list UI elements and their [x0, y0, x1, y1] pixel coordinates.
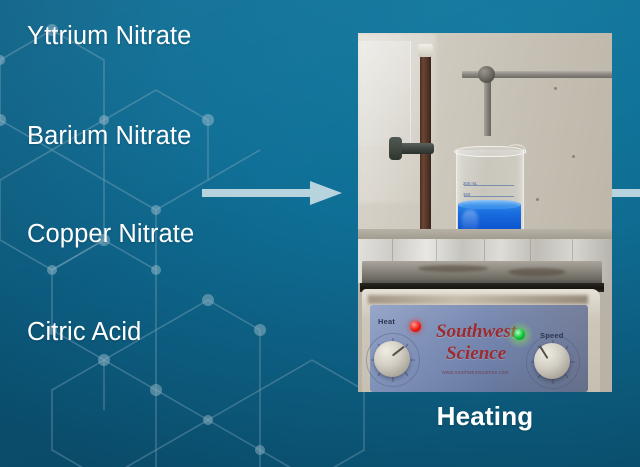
hotplate-body-stain — [368, 295, 588, 304]
reagent-item-yttrium-nitrate: Yttrium Nitrate — [27, 22, 191, 51]
process-arrow-right-icon — [202, 180, 342, 206]
heat-control-label: Heat — [378, 317, 395, 326]
wall-speck — [554, 87, 557, 90]
utility-clamp-head — [389, 137, 402, 160]
beaker-spout — [509, 143, 526, 156]
support-drop-rod — [484, 78, 491, 136]
ringstand-rod-cap — [418, 44, 433, 57]
slide-canvas: Yttrium Nitrate Barium Nitrate Copper Ni… — [0, 0, 640, 467]
glass-sash-panel — [358, 41, 411, 146]
hotplate-brand-line-1: Southwest — [436, 321, 516, 343]
beaker-graduation-150: 150 — [463, 192, 470, 197]
wall-speck — [536, 198, 539, 201]
solution-meniscus — [458, 200, 521, 209]
crossbar-clamp-knob — [478, 66, 495, 83]
experiment-photo: 200 mL 150 — [358, 33, 612, 392]
process-arrow-next-icon — [608, 180, 640, 206]
beaker-graduation-200: 200 mL — [463, 181, 478, 186]
plate-residue — [508, 268, 566, 276]
reagent-item-barium-nitrate: Barium Nitrate — [27, 122, 191, 151]
hotplate-brand-line-2: Science — [446, 343, 506, 365]
photo-caption: Heating — [358, 401, 612, 432]
reagent-list: Yttrium Nitrate Barium Nitrate Copper Ni… — [27, 0, 327, 467]
wall-speck — [572, 155, 575, 158]
heat-control-knob[interactable] — [374, 341, 410, 377]
hotplate-brand-url: www.southwestscience.com — [442, 370, 509, 376]
plate-residue — [418, 265, 488, 272]
reagent-item-copper-nitrate: Copper Nitrate — [27, 220, 194, 249]
speed-control-knob[interactable] — [534, 343, 570, 379]
speed-indicator-led — [514, 329, 525, 340]
glass-beaker: 200 mL 150 — [454, 144, 524, 241]
reagent-item-citric-acid: Citric Acid — [27, 318, 141, 347]
hotplate-heating-surface — [362, 261, 602, 285]
heat-indicator-led — [410, 321, 421, 332]
